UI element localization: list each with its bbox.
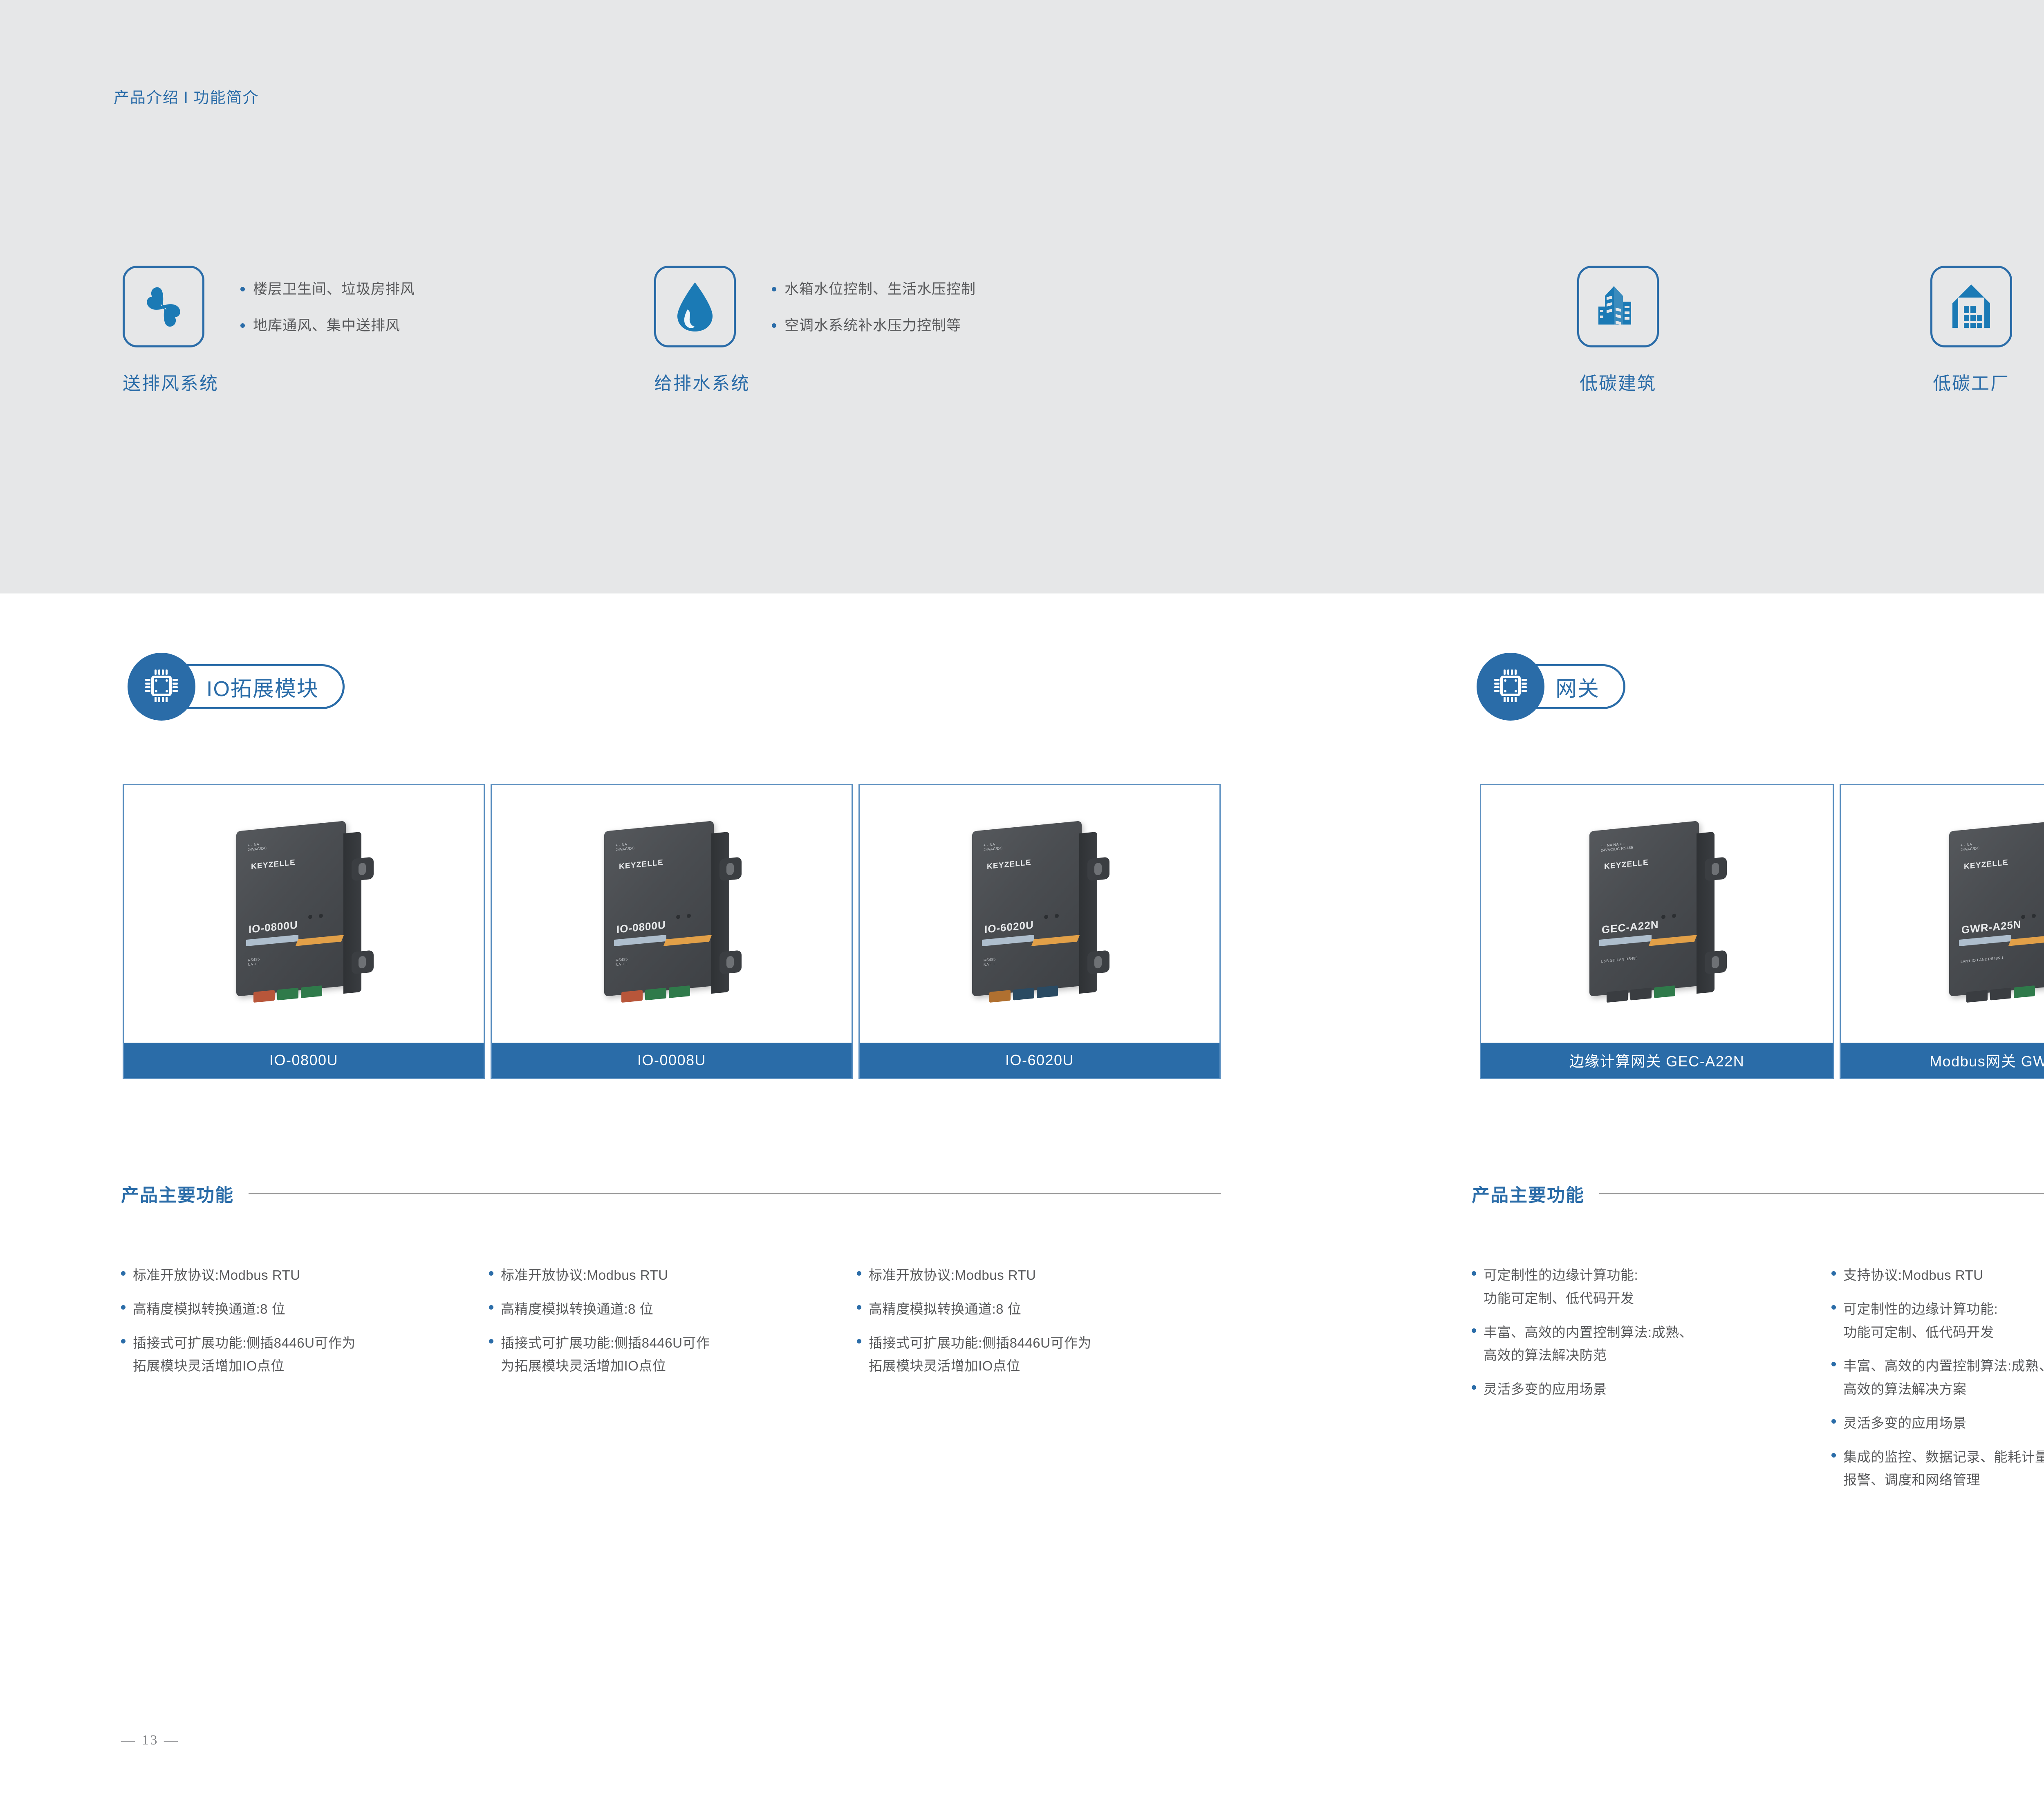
device-mount-tab bbox=[1705, 857, 1727, 881]
device-port-labels-top: + - NA 24VAC/DC bbox=[616, 842, 635, 853]
section-title: 网关 bbox=[1555, 672, 1600, 702]
device-mount-tab bbox=[719, 950, 742, 974]
features-heading-io: 产品主要功能 bbox=[121, 1180, 1221, 1207]
bullet-dot-icon bbox=[772, 287, 776, 291]
feature-column: 支持协议:Modbus RTU 可定制性的边缘计算功能: 功能可定制、低代码开发… bbox=[1831, 1264, 2044, 1502]
bullet-dot-icon bbox=[121, 1339, 126, 1343]
device-illustration: + - NA NA + - 24VAC/DC RS485 KEYZELLE GE… bbox=[1589, 826, 1724, 1002]
feature-text: 高精度模拟转换通道:8 位 bbox=[133, 1298, 285, 1321]
fan-icon bbox=[137, 280, 190, 333]
device-mount-tab bbox=[1087, 950, 1109, 974]
product-image: + - NA 24VAC/DC KEYZELLE IO-0800U RS485 … bbox=[124, 785, 484, 1043]
factory-icon bbox=[1951, 283, 1992, 330]
bullet-dot-icon bbox=[1831, 1271, 1836, 1276]
product-image: + - NA 24VAC/DC KEYZELLE GWR-A25N LAN1 I… bbox=[1841, 785, 2044, 1043]
device-mount-tab bbox=[1087, 857, 1109, 881]
section-header-io-modules: IO拓展模块 bbox=[128, 650, 345, 723]
bullet-dot-icon bbox=[489, 1305, 493, 1310]
chip-icon bbox=[1491, 666, 1530, 708]
feature-text: 标准开放协议:Modbus RTU bbox=[869, 1264, 1036, 1287]
product-label: IO-0800U bbox=[124, 1043, 484, 1078]
device-mount-tab bbox=[719, 857, 742, 881]
bullet-dot-icon bbox=[1472, 1385, 1476, 1390]
bullet-dot-icon bbox=[1831, 1419, 1836, 1424]
feature-column: 可定制性的边缘计算功能: 功能可定制、低代码开发 丰富、高效的内置控制算法:成熟… bbox=[1472, 1264, 1823, 1412]
section-header-gateway: 网关 bbox=[1477, 650, 1625, 723]
bullet-dot-icon bbox=[1472, 1271, 1476, 1276]
feature-column: 标准开放协议:Modbus RTU 高精度模拟转换通道:8 位 插接式可扩展功能… bbox=[857, 1264, 1225, 1388]
features-heading-gateway: 产品主要功能 bbox=[1472, 1180, 2044, 1207]
feature-item: 灵活多变的应用场景 bbox=[1472, 1378, 1823, 1401]
bullet-text: 地库通风、集中送排风 bbox=[253, 316, 400, 335]
product-card[interactable]: + - NA 24VAC/DC KEYZELLE IO-0800U RS485 … bbox=[123, 784, 485, 1079]
bullet-dot-icon bbox=[121, 1305, 126, 1310]
feature-text: 标准开放协议:Modbus RTU bbox=[501, 1264, 668, 1287]
page-number-left: — 13 — bbox=[121, 1733, 179, 1748]
product-label: Modbus网关 GWR-A25N bbox=[1841, 1043, 2044, 1078]
bullet-dot-icon bbox=[240, 287, 245, 291]
feature-item: 可定制性的边缘计算功能: 功能可定制、低代码开发 bbox=[1831, 1298, 2044, 1344]
scenario-block-low-carbon-factory: 低碳工厂 bbox=[1930, 266, 2012, 395]
scenario-block-water: 水箱水位控制、生活水压控制 空调水系统补水压力控制等 给排水系统 bbox=[654, 266, 976, 395]
feature-text: 灵活多变的应用场景 bbox=[1843, 1412, 1967, 1435]
feature-text: 丰富、高效的内置控制算法:成熟、 高效的算法解决防范 bbox=[1484, 1321, 1693, 1368]
device-port-labels-bottom: RS485 NA + - bbox=[248, 957, 260, 967]
feature-text: 高精度模拟转换通道:8 位 bbox=[501, 1298, 653, 1321]
feature-text: 集成的监控、数据记录、能耗计量、 报警、调度和网络管理 bbox=[1843, 1446, 2044, 1492]
chip-icon bbox=[142, 666, 181, 708]
product-card[interactable]: + - NA 24VAC/DC KEYZELLE IO-0800U RS485 … bbox=[491, 784, 853, 1079]
device-illustration: + - NA 24VAC/DC KEYZELLE IO-0800U RS485 … bbox=[604, 826, 739, 1002]
brochure-spread: 产品介绍 l 功能简介 产品介绍 l 功能简介 bbox=[0, 0, 2044, 1798]
feature-text: 丰富、高效的内置控制算法:成熟、 高效的算法解决方案 bbox=[1843, 1355, 2044, 1401]
water-bullets: 水箱水位控制、生活水压控制 空调水系统补水压力控制等 bbox=[772, 266, 976, 336]
product-card[interactable]: + - NA NA + - 24VAC/DC RS485 KEYZELLE GE… bbox=[1480, 784, 1834, 1079]
bullet-item: 空调水系统补水压力控制等 bbox=[772, 316, 976, 335]
device-illustration: + - NA 24VAC/DC KEYZELLE IO-6020U RS485 … bbox=[972, 826, 1107, 1002]
feature-item: 丰富、高效的内置控制算法:成熟、 高效的算法解决方案 bbox=[1831, 1355, 2044, 1401]
feature-item: 插接式可扩展功能:侧插8446U可作为 拓展模块灵活增加IO点位 bbox=[857, 1332, 1225, 1378]
bullet-item: 水箱水位控制、生活水压控制 bbox=[772, 280, 976, 299]
device-mount-tab bbox=[1705, 950, 1727, 974]
bullet-dot-icon bbox=[857, 1339, 861, 1343]
device-illustration: + - NA 24VAC/DC KEYZELLE IO-0800U RS485 … bbox=[236, 826, 371, 1002]
feature-column: 标准开放协议:Modbus RTU 高精度模拟转换通道:8 位 插接式可扩展功能… bbox=[121, 1264, 481, 1388]
bullet-text: 空调水系统补水压力控制等 bbox=[784, 316, 961, 335]
heading-rule bbox=[249, 1193, 1221, 1194]
office-building-icon-frame bbox=[1577, 266, 1659, 347]
device-mount-tab bbox=[352, 857, 374, 881]
scenario-caption: 低碳工厂 bbox=[1933, 369, 2010, 395]
device-port-labels-top: + - NA 24VAC/DC bbox=[248, 842, 267, 853]
device-mount-tab bbox=[352, 950, 374, 974]
product-card[interactable]: + - NA 24VAC/DC KEYZELLE IO-6020U RS485 … bbox=[858, 784, 1221, 1079]
product-label: IO-6020U bbox=[860, 1043, 1219, 1078]
section-title: IO拓展模块 bbox=[206, 672, 319, 702]
feature-text: 插接式可扩展功能:侧插8446U可作为 拓展模块灵活增加IO点位 bbox=[869, 1332, 1091, 1378]
product-image: + - NA 24VAC/DC KEYZELLE IO-6020U RS485 … bbox=[860, 785, 1219, 1043]
feature-item: 高精度模拟转换通道:8 位 bbox=[857, 1298, 1225, 1321]
scenario-caption: 给排水系统 bbox=[654, 369, 976, 395]
running-header-left: 产品介绍 l 功能简介 bbox=[114, 85, 259, 107]
bullet-dot-icon bbox=[240, 323, 245, 328]
feature-text: 可定制性的边缘计算功能: 功能可定制、低代码开发 bbox=[1843, 1298, 1998, 1344]
bullet-item: 地库通风、集中送排风 bbox=[240, 316, 415, 335]
feature-item: 标准开放协议:Modbus RTU bbox=[121, 1264, 481, 1287]
feature-text: 标准开放协议:Modbus RTU bbox=[133, 1264, 300, 1287]
fan-icon-frame bbox=[123, 266, 204, 347]
feature-text: 可定制性的边缘计算功能: 功能可定制、低代码开发 bbox=[1484, 1264, 1638, 1310]
bullet-dot-icon bbox=[489, 1271, 493, 1276]
feature-text: 灵活多变的应用场景 bbox=[1484, 1378, 1607, 1401]
feature-text: 插接式可扩展功能:侧插8446U可作 为拓展模块灵活增加IO点位 bbox=[501, 1332, 710, 1378]
office-building-icon bbox=[1595, 284, 1641, 329]
feature-text: 支持协议:Modbus RTU bbox=[1843, 1264, 1983, 1287]
bullet-dot-icon bbox=[1831, 1362, 1836, 1366]
water-drop-icon bbox=[671, 280, 719, 333]
chip-icon-badge bbox=[1477, 653, 1544, 721]
scenario-caption: 低碳建筑 bbox=[1580, 369, 1656, 395]
scenario-caption: 送排风系统 bbox=[123, 369, 415, 395]
feature-item: 丰富、高效的内置控制算法:成熟、 高效的算法解决防范 bbox=[1472, 1321, 1823, 1368]
bullet-dot-icon bbox=[1831, 1305, 1836, 1310]
product-card[interactable]: + - NA 24VAC/DC KEYZELLE GWR-A25N LAN1 I… bbox=[1840, 784, 2044, 1079]
scenario-block-low-carbon-building: 低碳建筑 bbox=[1577, 266, 1659, 395]
feature-item: 插接式可扩展功能:侧插8446U可作 为拓展模块灵活增加IO点位 bbox=[489, 1332, 849, 1378]
feature-item: 高精度模拟转换通道:8 位 bbox=[121, 1298, 481, 1321]
factory-icon-frame bbox=[1930, 266, 2012, 347]
device-port-labels-top: + - NA 24VAC/DC bbox=[1961, 842, 1980, 853]
bullet-dot-icon bbox=[489, 1339, 493, 1343]
feature-item: 高精度模拟转换通道:8 位 bbox=[489, 1298, 849, 1321]
device-port-labels-bottom: RS485 NA + - bbox=[616, 957, 628, 967]
features-heading-text: 产品主要功能 bbox=[1472, 1180, 1585, 1207]
device-port-labels-top: + - NA 24VAC/DC bbox=[984, 842, 1003, 853]
bullet-dot-icon bbox=[857, 1305, 861, 1310]
ventilation-bullets: 楼层卫生间、垃圾房排风 地库通风、集中送排风 bbox=[240, 266, 415, 336]
chip-icon-badge bbox=[128, 653, 195, 721]
feature-text: 高精度模拟转换通道:8 位 bbox=[869, 1298, 1021, 1321]
bullet-dot-icon bbox=[772, 323, 776, 328]
product-image: + - NA NA + - 24VAC/DC RS485 KEYZELLE GE… bbox=[1481, 785, 1833, 1043]
bullet-text: 楼层卫生间、垃圾房排风 bbox=[253, 280, 415, 299]
bullet-dot-icon bbox=[1831, 1453, 1836, 1458]
product-image: + - NA 24VAC/DC KEYZELLE IO-0800U RS485 … bbox=[492, 785, 852, 1043]
features-heading-text: 产品主要功能 bbox=[121, 1180, 234, 1207]
bullet-dot-icon bbox=[1472, 1328, 1476, 1333]
feature-item: 标准开放协议:Modbus RTU bbox=[857, 1264, 1225, 1287]
bullet-dot-icon bbox=[857, 1271, 861, 1276]
feature-column: 标准开放协议:Modbus RTU 高精度模拟转换通道:8 位 插接式可扩展功能… bbox=[489, 1264, 849, 1388]
feature-item: 可定制性的边缘计算功能: 功能可定制、低代码开发 bbox=[1472, 1264, 1823, 1310]
heading-rule bbox=[1599, 1193, 2044, 1194]
device-port-labels-bottom: RS485 NA + - bbox=[984, 957, 996, 967]
bullet-text: 水箱水位控制、生活水压控制 bbox=[784, 280, 976, 299]
device-illustration: + - NA 24VAC/DC KEYZELLE GWR-A25N LAN1 I… bbox=[1949, 826, 2044, 1002]
product-label: IO-0008U bbox=[492, 1043, 852, 1078]
bullet-dot-icon bbox=[121, 1271, 126, 1276]
water-drop-icon-frame bbox=[654, 266, 736, 347]
feature-item: 灵活多变的应用场景 bbox=[1831, 1412, 2044, 1435]
product-label: 边缘计算网关 GEC-A22N bbox=[1481, 1043, 1833, 1078]
feature-item: 支持协议:Modbus RTU bbox=[1831, 1264, 2044, 1287]
bullet-item: 楼层卫生间、垃圾房排风 bbox=[240, 280, 415, 299]
feature-item: 标准开放协议:Modbus RTU bbox=[489, 1264, 849, 1287]
feature-item: 集成的监控、数据记录、能耗计量、 报警、调度和网络管理 bbox=[1831, 1446, 2044, 1492]
feature-text: 插接式可扩展功能:侧插8446U可作为 拓展模块灵活增加IO点位 bbox=[133, 1332, 356, 1378]
scenario-block-ventilation: 楼层卫生间、垃圾房排风 地库通风、集中送排风 送排风系统 bbox=[123, 266, 415, 395]
feature-item: 插接式可扩展功能:侧插8446U可作为 拓展模块灵活增加IO点位 bbox=[121, 1332, 481, 1378]
